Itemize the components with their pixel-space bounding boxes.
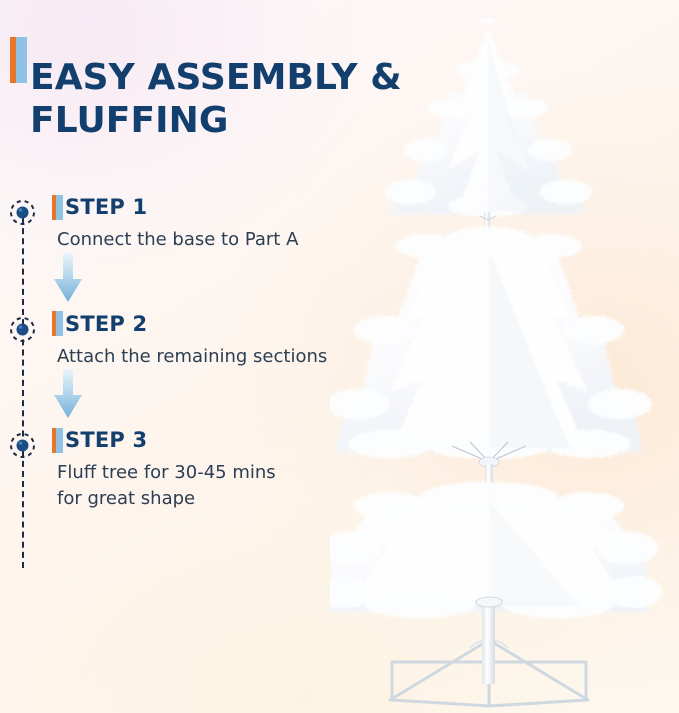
dashed-ring-dot-icon xyxy=(8,315,37,344)
accent-bar-blue xyxy=(16,37,27,83)
headline-accent-bars xyxy=(10,37,27,83)
step-accent-bars xyxy=(52,311,63,336)
step-item-1: STEP 1 Connect the base to Part A xyxy=(0,190,360,253)
accent-bar-blue xyxy=(56,195,63,220)
step-accent-bars xyxy=(52,428,63,453)
down-arrow-icon xyxy=(52,404,84,423)
tree-top-section xyxy=(384,8,592,234)
headline-block: EASY ASSEMBLY & FLUFFING xyxy=(10,33,410,166)
step-title: STEP 3 xyxy=(65,428,147,452)
accent-bar-blue xyxy=(56,428,63,453)
step-accent-bars xyxy=(52,195,63,220)
tree-middle-section xyxy=(330,227,652,494)
step-title: STEP 2 xyxy=(65,312,147,336)
dashed-ring-dot-icon xyxy=(8,431,37,460)
step-description: Attach the remaining sections xyxy=(57,344,360,370)
down-arrow-icon xyxy=(52,288,84,307)
page-title: EASY ASSEMBLY & FLUFFING xyxy=(30,57,402,142)
accent-bar-blue xyxy=(56,311,63,336)
steps-list: STEP 1 Connect the base to Part A xyxy=(0,190,360,511)
assembly-infographic: EASY ASSEMBLY & FLUFFING STEP 1 Conn xyxy=(0,0,679,713)
dashed-ring-dot-icon xyxy=(8,198,37,227)
step-item-2: STEP 2 Attach the remaining sections xyxy=(0,307,360,370)
tree-bottom-section xyxy=(330,482,662,706)
step-description: Fluff tree for 30-45 mins for great shap… xyxy=(57,460,360,511)
dashed-connector-line xyxy=(22,218,24,568)
step-title: STEP 1 xyxy=(65,195,147,219)
step-item-3: STEP 3 Fluff tree for 30-45 mins for gre… xyxy=(0,423,360,511)
step-description: Connect the base to Part A xyxy=(57,227,360,253)
